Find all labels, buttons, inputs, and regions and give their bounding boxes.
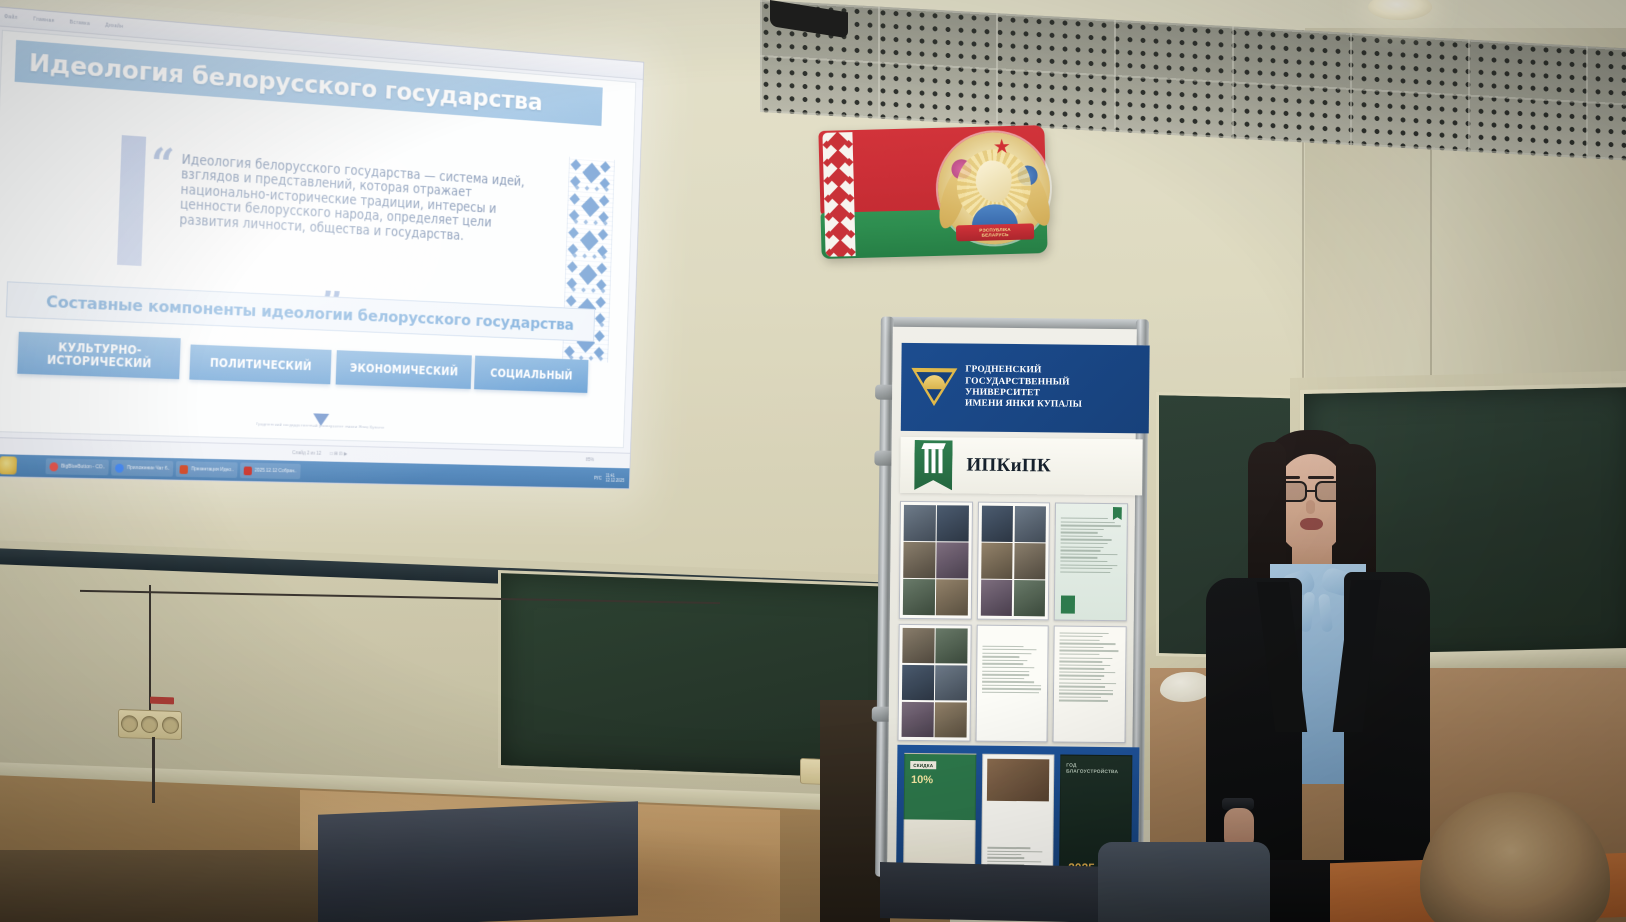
department-label: ИПКиПК [966, 455, 1051, 478]
zoom-level[interactable]: 85% [586, 457, 594, 463]
taskbar-item-label: Презентация Идео.. [191, 466, 234, 473]
taskbar-item-4[interactable]: 2025.12.12 Собран.. [240, 463, 301, 480]
power-cable [149, 585, 151, 711]
emblem-ribbon: РЭСПУБЛІКА БЕЛАРУСЬ [956, 223, 1034, 241]
wall-power-socket[interactable] [118, 709, 182, 740]
flag-ornament-band [822, 132, 855, 257]
powerpoint-icon [180, 465, 189, 474]
menu-item-home[interactable]: Главная [33, 16, 54, 24]
components-row: КУЛЬТУРНО-ИСТОРИЧЕСКИЙПОЛИТИЧЕСКИЙЭКОНОМ… [10, 331, 610, 391]
flyer-photo [987, 759, 1049, 802]
ornament-motif [568, 191, 613, 228]
taskbar-item-3[interactable]: Презентация Идео.. [176, 461, 238, 478]
university-header: ГРОДНЕНСКИЙ ГОСУДАРСТВЕННЫЙ УНИВЕРСИТЕТ … [901, 343, 1150, 434]
powerpoint-window: Файл Главная Вставка Дизайн Идеология бе… [0, 6, 644, 489]
component-box-4: СОЦИАЛЬНЫЙ [474, 356, 588, 393]
chrome-icon [115, 463, 124, 472]
info-document-1[interactable] [1054, 502, 1128, 620]
slide-quote-text: Идеология белорусского государства — сис… [179, 153, 545, 248]
belarus-state-flag: ★ РЭСПУБЛІКА БЕЛАРУСЬ [818, 125, 1047, 259]
socket-cable [152, 737, 155, 803]
student-desk-left [318, 801, 638, 922]
information-board: ГРОДНЕНСКИЙ ГОСУДАРСТВЕННЫЙ УНИВЕРСИТЕТ … [875, 317, 1149, 880]
taskbar-item-2[interactable]: Приложение Чат б.. [112, 460, 174, 477]
projection-screen: Файл Главная Вставка Дизайн Идеология бе… [0, 6, 644, 489]
system-tray: РУС 11:41 12.12.2025 [594, 473, 625, 483]
nose [1306, 500, 1315, 514]
start-button[interactable] [0, 456, 17, 474]
university-name-line-4: ИМЕНИ ЯНКИ КУПАЛЫ [965, 399, 1082, 412]
mouth [1300, 518, 1323, 530]
department-sign: ИПКиПК [900, 437, 1143, 496]
slide-subtitle: Составные компоненты идеологии белорусск… [46, 292, 574, 334]
gsu-triangle-logo [911, 366, 957, 408]
ornament-motif [566, 225, 611, 261]
photo-collage-2[interactable] [976, 502, 1050, 620]
ornament-motif [569, 157, 614, 194]
emblem-text-bottom: БЕЛАРУСЬ [982, 232, 1009, 238]
ornament-motif [565, 259, 610, 295]
menu-item-file[interactable]: Файл [4, 14, 18, 21]
quote-accent-bar [117, 135, 146, 266]
taskbar-item-label: 2025.12.12 Собран.. [254, 468, 296, 475]
board-panel: ГРОДНЕНСКИЙ ГОСУДАРСТВЕННЫЙ УНИВЕРСИТЕТ … [887, 327, 1137, 876]
classroom-scene: Файл Главная Вставка Дизайн Идеология бе… [0, 0, 1626, 922]
tray-language[interactable]: РУС [594, 475, 602, 480]
poster-grid [897, 501, 1128, 743]
ipkipk-shield-logo [914, 440, 953, 490]
component-box-3: ЭКОНОМИЧЕСКИЙ [336, 350, 472, 389]
slide-indicator: Слайд 2 из 12 [292, 450, 321, 456]
slide-subtitle-band: Составные компоненты идеологии белорусск… [6, 281, 595, 342]
component-box-2: ПОЛИТИЧЕСКИЙ [189, 344, 331, 384]
view-controls[interactable]: □ ⊞ ⊡ ▶ [330, 451, 347, 457]
discount-value: 10% [911, 774, 933, 786]
presentation-slide: Идеология белорусского государства “ Иде… [0, 30, 636, 448]
photo-collage-3[interactable] [897, 623, 971, 741]
chrome-icon [49, 462, 58, 471]
quote-open-mark: “ [150, 153, 174, 180]
tray-date: 12.12.2025 [606, 478, 625, 483]
university-name: ГРОДНЕНСКИЙ ГОСУДАРСТВЕННЫЙ УНИВЕРСИТЕТ … [965, 365, 1082, 412]
student-chair [1098, 842, 1270, 922]
socket-warning-label [150, 697, 174, 705]
menu-item-insert[interactable]: Вставка [70, 19, 91, 27]
taskbar-item-1[interactable]: BigBlueButton - CO.. [45, 458, 109, 475]
foreground-wall-shadow [0, 850, 330, 922]
flyer-title: ГОД БЛАГОУСТРОЙСТВА [1066, 764, 1126, 777]
university-name-line-1: ГРОДНЕНСКИЙ [965, 365, 1082, 378]
photo-article-flyer[interactable] [981, 754, 1054, 883]
pdf-icon [244, 466, 252, 475]
taskbar-item-label: Приложение Чат б.. [127, 465, 170, 472]
component-box-1: КУЛЬТУРНО-ИСТОРИЧЕСКИЙ [17, 332, 180, 379]
slide-footer: Гродненский государственный университет … [0, 414, 623, 436]
menu-item-design[interactable]: Дизайн [105, 22, 123, 29]
info-document-2[interactable] [975, 624, 1049, 742]
seal-icon [1061, 595, 1075, 613]
eyebrow-right [1308, 476, 1334, 479]
info-document-3[interactable] [1053, 625, 1127, 743]
photo-collage-1[interactable] [899, 501, 973, 619]
discount-badge: СКИДКА [910, 761, 936, 769]
taskbar-item-label: BigBlueButton - CO.. [61, 464, 105, 471]
